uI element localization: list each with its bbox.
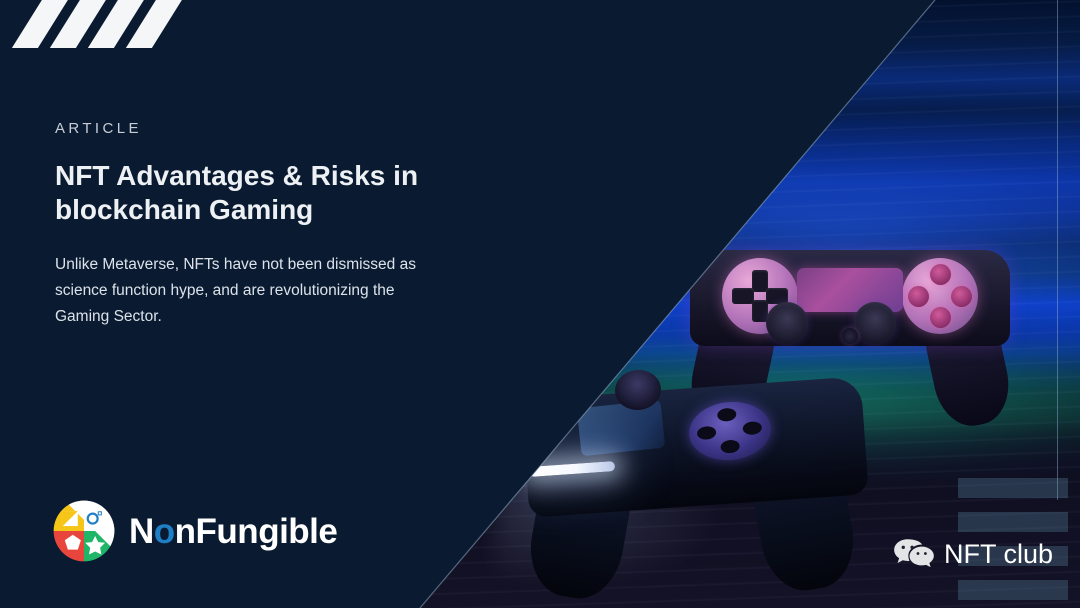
article-text-block: ARTICLE NFT Advantages & Risks in blockc…	[55, 120, 475, 330]
article-deck: Unlike Metaverse, NFTs have not been dis…	[55, 252, 445, 330]
wordmark-part-2: nFungible	[175, 512, 338, 551]
photo-vertical-hairline	[1057, 0, 1058, 500]
article-eyebrow-label: ARTICLE	[55, 120, 475, 137]
page-title: NFT Advantages & Risks in blockchain Gam…	[55, 159, 455, 226]
game-controller-front	[495, 368, 895, 578]
controller-stick-left	[766, 302, 808, 344]
controller-face-buttons-ring	[902, 258, 978, 334]
slash-bar	[958, 478, 1068, 498]
controller-stick-right	[854, 302, 896, 344]
slash-bar	[958, 512, 1068, 532]
controller-touchpad	[577, 400, 666, 457]
controller-ps-button	[842, 328, 858, 344]
slash-bar	[958, 580, 1068, 600]
wechat-account-name: NFT club	[944, 541, 1053, 568]
nonfungible-wordmark: NonFungible	[129, 514, 337, 549]
article-banner: ARTICLE NFT Advantages & Risks in blockc…	[0, 0, 1080, 608]
wechat-account-badge[interactable]: NFT club	[893, 538, 1053, 570]
nonfungible-logo-mark	[53, 500, 115, 562]
wordmark-accent-letter: o	[154, 512, 175, 551]
corner-slash-decoration-top-left	[30, 0, 200, 48]
wordmark-part-1: N	[129, 512, 154, 551]
wechat-icon	[893, 538, 935, 570]
nonfungible-brand[interactable]: NonFungible	[53, 500, 337, 562]
